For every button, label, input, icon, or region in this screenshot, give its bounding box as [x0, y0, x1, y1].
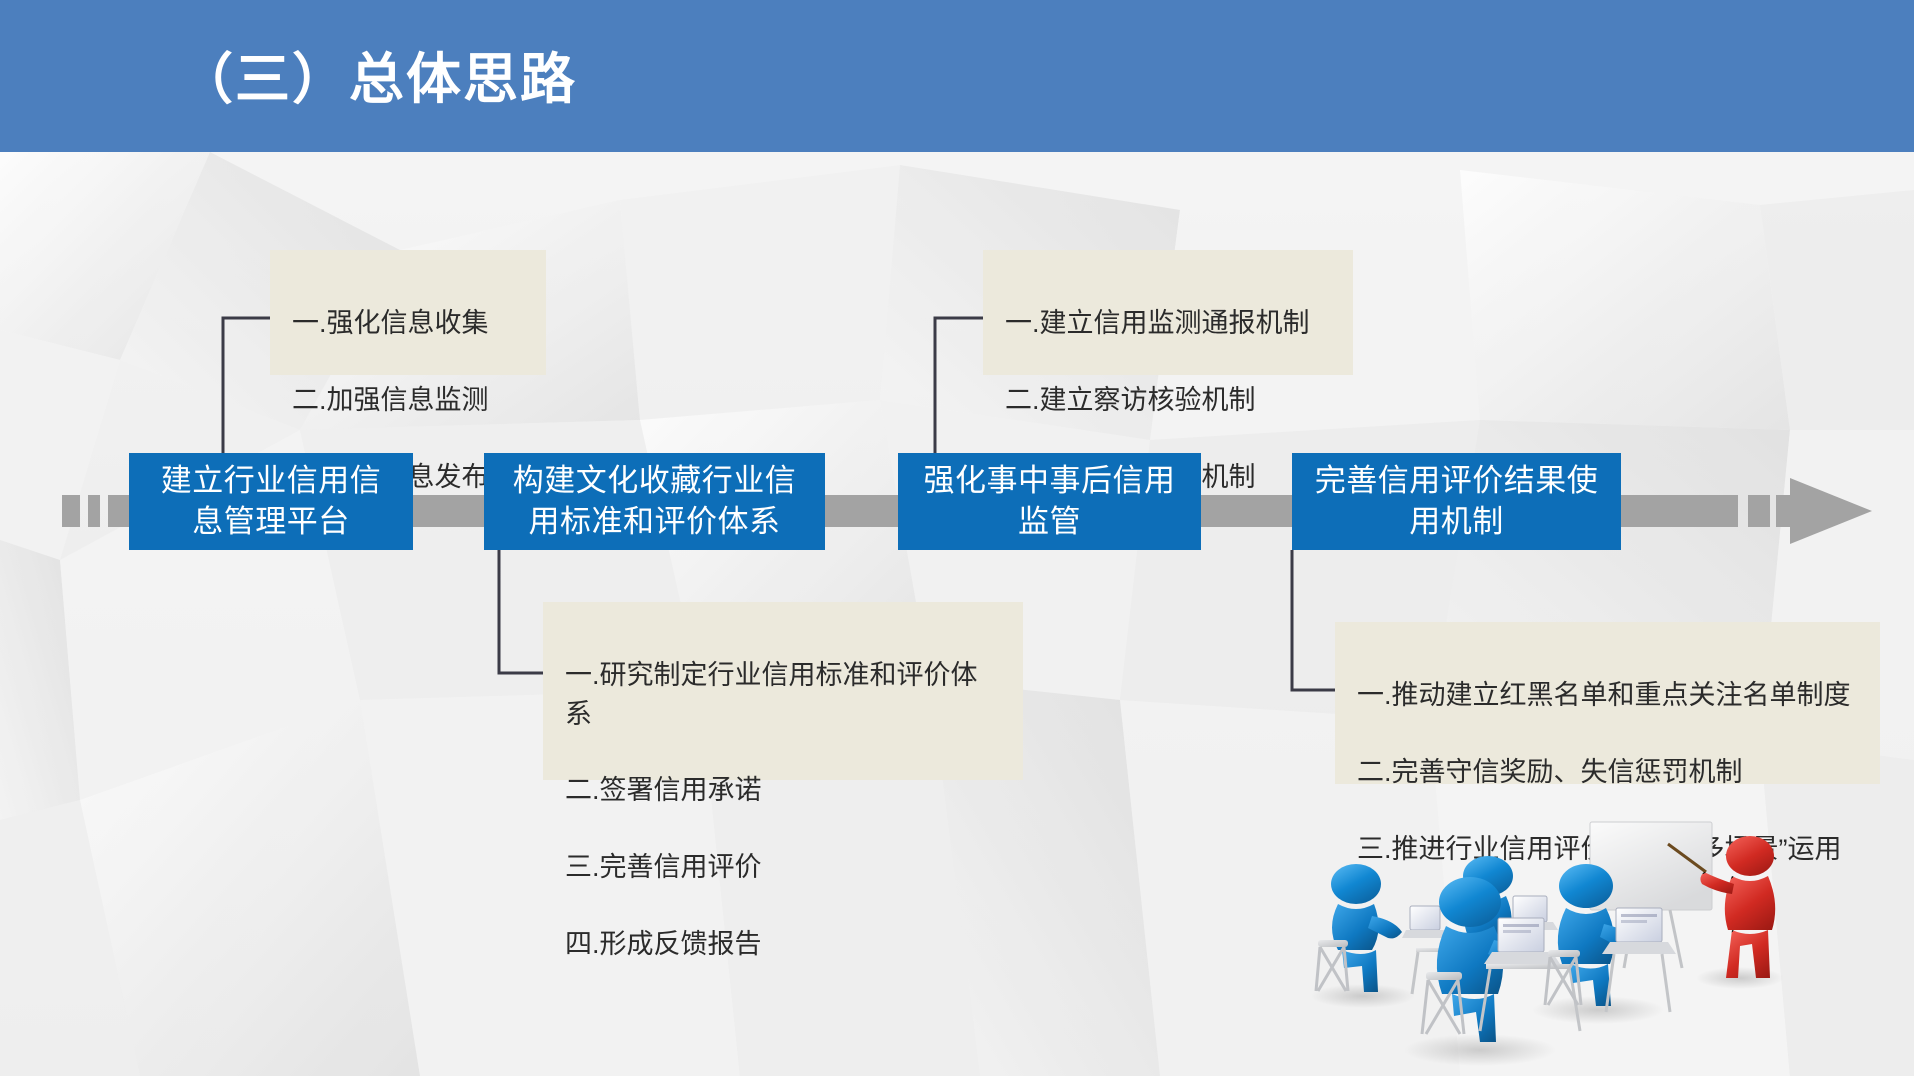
- callout-box-1: 一.强化信息收集 二.加强信息监测 三.完善信息发布: [270, 250, 546, 375]
- process-box-1[interactable]: 建立行业信用信 息管理平台: [129, 453, 413, 550]
- classroom-training-illustration: [1298, 800, 1798, 1076]
- process-box-4[interactable]: 完善信用评价结果使 用机制: [1292, 453, 1621, 550]
- process-box-3[interactable]: 强化事中事后信用 监管: [898, 453, 1201, 550]
- callout-1-line-2: 二.加强信息监测: [292, 381, 526, 419]
- callout-3-line-2: 二.签署信用承诺: [565, 771, 1003, 809]
- callout-3-line-4: 四.形成反馈报告: [565, 925, 1003, 963]
- callout-2-line-2: 二.建立察访核验机制: [1005, 381, 1333, 419]
- callout-1-line-1: 一.强化信息收集: [292, 304, 526, 342]
- page-title: （三）总体思路: [178, 34, 577, 114]
- callout-2-line-1: 一.建立信用监测通报机制: [1005, 304, 1333, 342]
- callout-3-line-3: 三.完善信用评价: [565, 848, 1003, 886]
- process-box-2[interactable]: 构建文化收藏行业信 用标准和评价体系: [484, 453, 825, 550]
- callout-box-2: 一.建立信用监测通报机制 二.建立察访核验机制 三.建立沟通交流机制: [983, 250, 1353, 375]
- callout-4-line-2: 二.完善守信奖励、失信惩罚机制: [1357, 753, 1860, 791]
- callout-3-line-1: 一.研究制定行业信用标准和评价体系: [565, 656, 1003, 733]
- callout-4-line-1: 一.推动建立红黑名单和重点关注名单制度: [1357, 676, 1860, 714]
- slide-canvas: （三）总体思路: [0, 0, 1914, 1076]
- callout-box-3: 一.研究制定行业信用标准和评价体系 二.签署信用承诺 三.完善信用评价 四.形成…: [543, 602, 1023, 780]
- callout-box-4: 一.推动建立红黑名单和重点关注名单制度 二.完善守信奖励、失信惩罚机制 三.推进…: [1335, 622, 1880, 784]
